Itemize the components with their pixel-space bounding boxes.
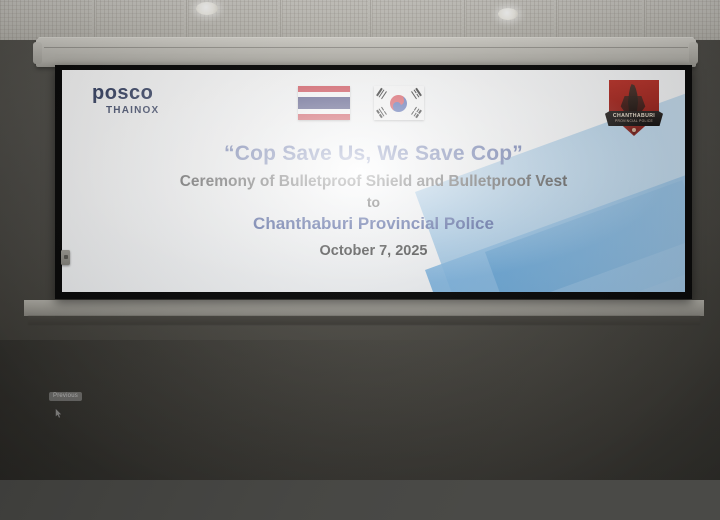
slide-subtitle: Ceremony of Bulletproof Shield and Bulle… <box>62 173 685 192</box>
projection-screen: posco THAINOX <box>55 65 692 299</box>
flag-row <box>298 86 424 120</box>
posco-thainox-logo: posco THAINOX <box>92 83 159 116</box>
thailand-flag-icon <box>298 86 350 120</box>
wall-ledge-shadow <box>28 316 700 325</box>
posco-logo-subtext: THAINOX <box>92 105 159 116</box>
scene-root: VERTEX posco THAINOX <box>0 0 720 480</box>
previous-button-tooltip: Previous <box>49 392 82 401</box>
presentation-slide: posco THAINOX <box>62 70 685 292</box>
ceiling-downlight <box>498 8 518 20</box>
badge-subtitle-text: PROVINCIAL POLICE <box>615 120 653 123</box>
screen-housing: VERTEX <box>36 39 696 67</box>
screen-housing-endcap-left <box>33 42 42 64</box>
screen-housing-endcap-right <box>689 42 698 64</box>
slide-title: “Cop Save Us, We Save Cop” <box>62 142 685 166</box>
ceiling-downlight <box>196 2 218 15</box>
wall-ledge <box>24 300 704 316</box>
badge-name-text: CHANTHABURI <box>613 114 655 119</box>
slide-recipient: Chanthaburi Provincial Police <box>62 214 685 234</box>
slide-date: October 7, 2025 <box>62 243 685 260</box>
mouse-cursor <box>55 406 62 417</box>
chanthaburi-police-badge-icon: CHANTHABURI PROVINCIAL POLICE <box>605 78 663 142</box>
slide-text-block: “Cop Save Us, We Save Cop” Ceremony of B… <box>62 142 685 260</box>
slide-connector-word: to <box>62 194 685 211</box>
posco-logo-wordmark: posco <box>92 83 159 103</box>
south-korea-flag-icon <box>374 86 424 120</box>
wall-switch[interactable] <box>61 250 70 265</box>
